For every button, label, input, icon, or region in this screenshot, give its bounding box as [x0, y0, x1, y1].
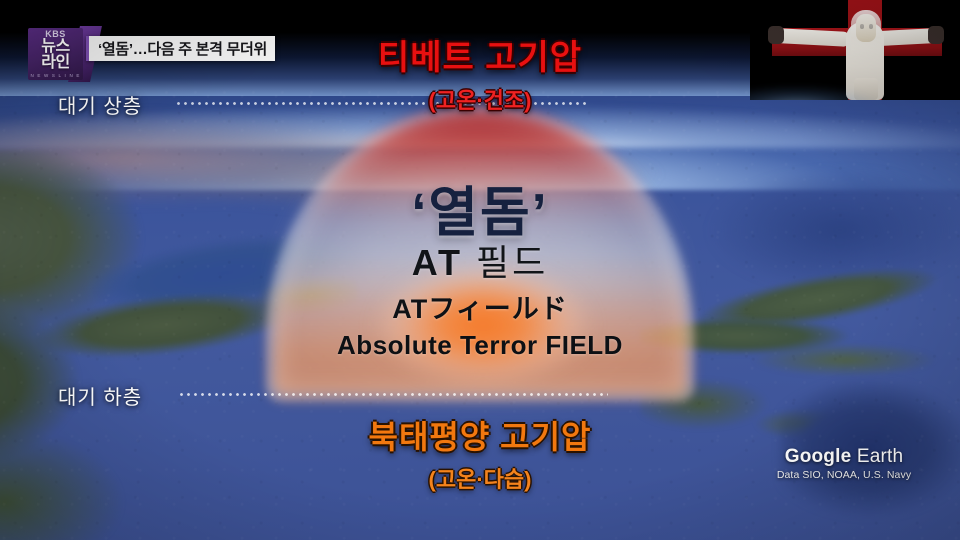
heat-dome-hot-core: [338, 248, 628, 408]
newsline-ko-line1: 뉴스: [41, 39, 69, 55]
figure-veil: [851, 10, 881, 56]
upper-atmosphere-dotted-line: [175, 102, 590, 105]
newsline-ko-line2: 라인: [41, 55, 69, 71]
lower-atmosphere-dotted-line: [178, 393, 608, 396]
figure-right-hand: [928, 26, 944, 44]
overlay-earth-glow: [750, 72, 880, 100]
kbs-newsline-logo: KBS 뉴스 라인 N E W S L I N E: [28, 28, 83, 80]
overlay-figure-on-cross: [750, 0, 960, 100]
headline-text: ‘열돔’…다음 주 본격 무더위: [98, 38, 267, 59]
newsline-tagline: N E W S L I N E: [30, 73, 80, 78]
headline-banner: ‘열돔’…다음 주 본격 무더위: [86, 36, 275, 61]
heat-dome-graphic: [270, 108, 690, 398]
lower-atmosphere-label: 대기 하층: [58, 381, 142, 410]
broadcast-screen: 대기 상층 대기 하층 티베트 고기압 (고온·건조) ‘열돔’ AT 필드 A…: [0, 0, 960, 540]
figure-left-hand: [768, 26, 784, 44]
upper-atmosphere-label: 대기 상층: [58, 90, 142, 119]
